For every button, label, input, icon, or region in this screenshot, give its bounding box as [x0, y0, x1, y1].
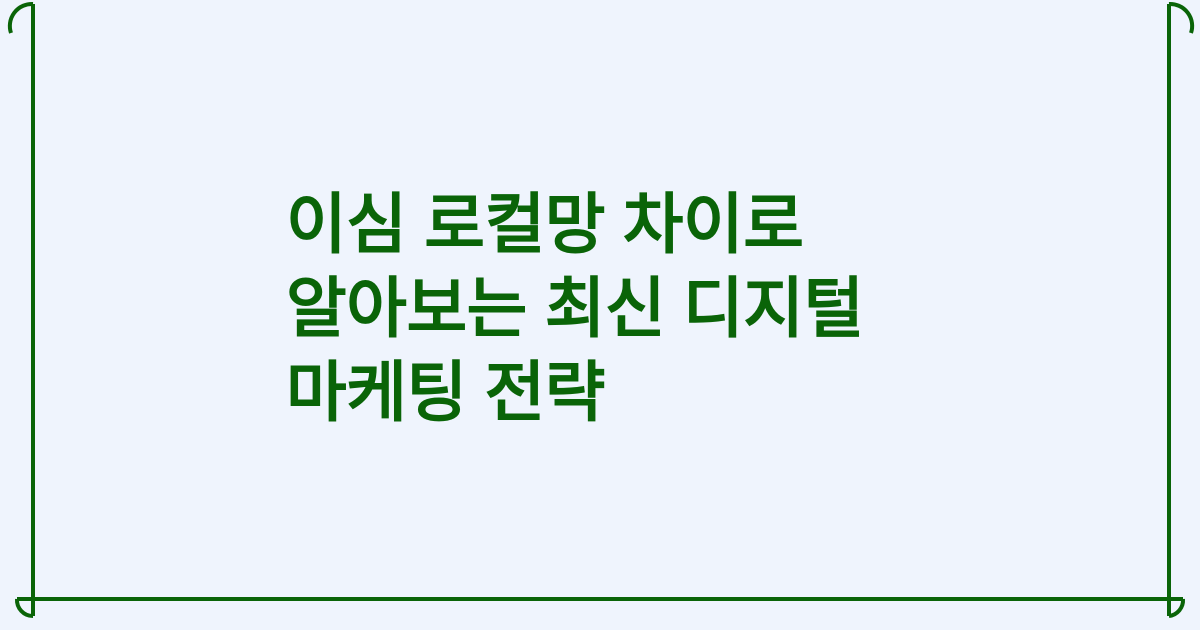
top-left-hook-icon — [10, 4, 33, 33]
title-block: 이심 로컬망 차이로 알아보는 최신 디지털 마케팅 전략 — [286, 182, 1106, 434]
bottom-left-loop-icon — [17, 599, 33, 616]
social-card: 이심 로컬망 차이로 알아보는 최신 디지털 마케팅 전략 — [0, 0, 1200, 630]
page-title: 이심 로컬망 차이로 알아보는 최신 디지털 마케팅 전략 — [286, 182, 1106, 434]
top-right-hook-icon — [1169, 4, 1192, 33]
bottom-right-loop-icon — [1169, 599, 1183, 616]
